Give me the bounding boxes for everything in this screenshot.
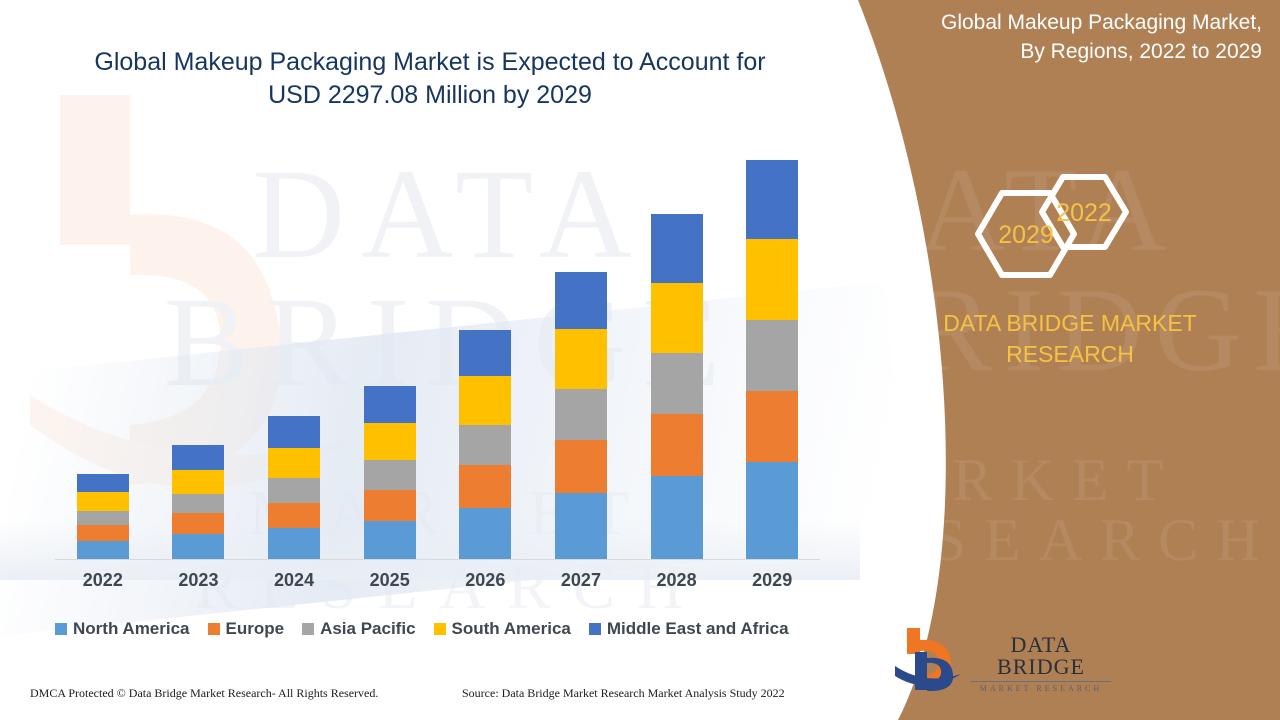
bar-segment bbox=[172, 494, 224, 514]
bar-segment bbox=[77, 525, 129, 541]
bar-2024 bbox=[268, 416, 320, 560]
bar-segment bbox=[555, 440, 607, 493]
x-axis-label-2022: 2022 bbox=[63, 570, 143, 591]
bar-segment bbox=[459, 330, 511, 377]
bar-segment bbox=[172, 445, 224, 470]
bar-segment bbox=[746, 320, 798, 391]
bar-segment bbox=[364, 521, 416, 560]
bar-2027 bbox=[555, 272, 607, 560]
dmca-notice: DMCA Protected © Data Bridge Market Rese… bbox=[30, 686, 378, 701]
legend-item[interactable]: North America bbox=[55, 619, 190, 639]
legend-label: South America bbox=[452, 619, 571, 639]
bar-segment bbox=[651, 414, 703, 477]
bar-segment bbox=[268, 503, 320, 529]
bar-segment bbox=[651, 476, 703, 560]
bar-segment bbox=[651, 353, 703, 414]
bar-segment bbox=[268, 416, 320, 448]
bar-2025 bbox=[364, 386, 416, 560]
bar-2028 bbox=[651, 214, 703, 560]
bar-segment bbox=[555, 272, 607, 329]
bar-2026 bbox=[459, 330, 511, 560]
legend-swatch-icon bbox=[55, 623, 67, 635]
legend-label: Europe bbox=[226, 619, 285, 639]
logo-wordmark: DATA BRIDGE MARKET RESEARCH bbox=[971, 634, 1111, 693]
chart-legend: North AmericaEuropeAsia PacificSouth Ame… bbox=[55, 616, 845, 642]
hexagon-2022-label: 2022 bbox=[1056, 199, 1112, 227]
x-axis-label-2027: 2027 bbox=[541, 570, 621, 591]
page-title: Global Makeup Packaging Market is Expect… bbox=[60, 46, 800, 113]
bar-segment bbox=[746, 391, 798, 461]
bar-segment bbox=[746, 160, 798, 239]
bar-segment bbox=[651, 214, 703, 282]
brand-panel: DATA BRIDGE MARKET RESEARCH Global Makeu… bbox=[840, 0, 1280, 720]
logo-name-line1: DATA BRIDGE bbox=[971, 634, 1111, 678]
bar-segment bbox=[268, 478, 320, 502]
bar-segment bbox=[172, 470, 224, 494]
chart-x-axis-labels: 20222023202420252026202720282029 bbox=[55, 570, 820, 596]
legend-label: North America bbox=[73, 619, 190, 639]
bar-segment bbox=[364, 460, 416, 490]
legend-item[interactable]: Asia Pacific bbox=[302, 619, 415, 639]
legend-swatch-icon bbox=[434, 623, 446, 635]
legend-swatch-icon bbox=[208, 623, 220, 635]
bar-segment bbox=[77, 492, 129, 510]
bar-segment bbox=[651, 283, 703, 353]
bar-segment bbox=[172, 513, 224, 534]
legend-swatch-icon bbox=[302, 623, 314, 635]
bar-segment bbox=[555, 329, 607, 390]
x-axis-label-2029: 2029 bbox=[732, 570, 812, 591]
bar-segment bbox=[555, 389, 607, 440]
hexagon-badges: 2022 2029 bbox=[960, 155, 1180, 295]
hexagon-2029-label: 2029 bbox=[998, 221, 1054, 249]
bar-segment bbox=[268, 528, 320, 560]
bar-segment bbox=[364, 423, 416, 460]
chart-axis-line bbox=[55, 559, 820, 560]
bar-segment bbox=[77, 511, 129, 526]
stacked-bar-chart bbox=[55, 160, 820, 560]
x-axis-label-2023: 2023 bbox=[158, 570, 238, 591]
bar-segment bbox=[459, 508, 511, 560]
x-axis-label-2024: 2024 bbox=[254, 570, 334, 591]
legend-item[interactable]: Middle East and Africa bbox=[589, 619, 789, 639]
bar-segment bbox=[172, 534, 224, 560]
legend-item[interactable]: South America bbox=[434, 619, 571, 639]
bar-segment bbox=[268, 448, 320, 478]
bar-segment bbox=[77, 474, 129, 493]
legend-label: Asia Pacific bbox=[320, 619, 415, 639]
legend-label: Middle East and Africa bbox=[607, 619, 789, 639]
x-axis-label-2026: 2026 bbox=[445, 570, 525, 591]
bar-2022 bbox=[77, 474, 129, 560]
bar-segment bbox=[364, 386, 416, 423]
source-note: Source: Data Bridge Market Research Mark… bbox=[462, 686, 785, 701]
logo-divider bbox=[971, 681, 1111, 682]
bar-segment bbox=[459, 425, 511, 465]
legend-swatch-icon bbox=[589, 623, 601, 635]
bar-segment bbox=[77, 541, 129, 560]
data-bridge-logo: DATA BRIDGE MARKET RESEARCH bbox=[893, 620, 1108, 700]
x-axis-label-2028: 2028 bbox=[637, 570, 717, 591]
bar-2029 bbox=[746, 160, 798, 560]
bar-segment bbox=[459, 465, 511, 507]
legend-item[interactable]: Europe bbox=[208, 619, 285, 639]
footer: DMCA Protected © Data Bridge Market Rese… bbox=[0, 686, 850, 708]
logo-mark-icon bbox=[893, 626, 965, 692]
bar-segment bbox=[746, 239, 798, 320]
bar-2023 bbox=[172, 445, 224, 560]
bar-segment bbox=[555, 493, 607, 560]
bar-segment bbox=[459, 376, 511, 425]
bar-segment bbox=[746, 462, 798, 560]
bar-segment bbox=[364, 490, 416, 521]
logo-name-line2: MARKET RESEARCH bbox=[971, 684, 1111, 693]
x-axis-label-2025: 2025 bbox=[350, 570, 430, 591]
panel-title: Global Makeup Packaging Market, By Regio… bbox=[862, 8, 1262, 67]
brand-name: DATA BRIDGE MARKET RESEARCH bbox=[880, 308, 1260, 370]
